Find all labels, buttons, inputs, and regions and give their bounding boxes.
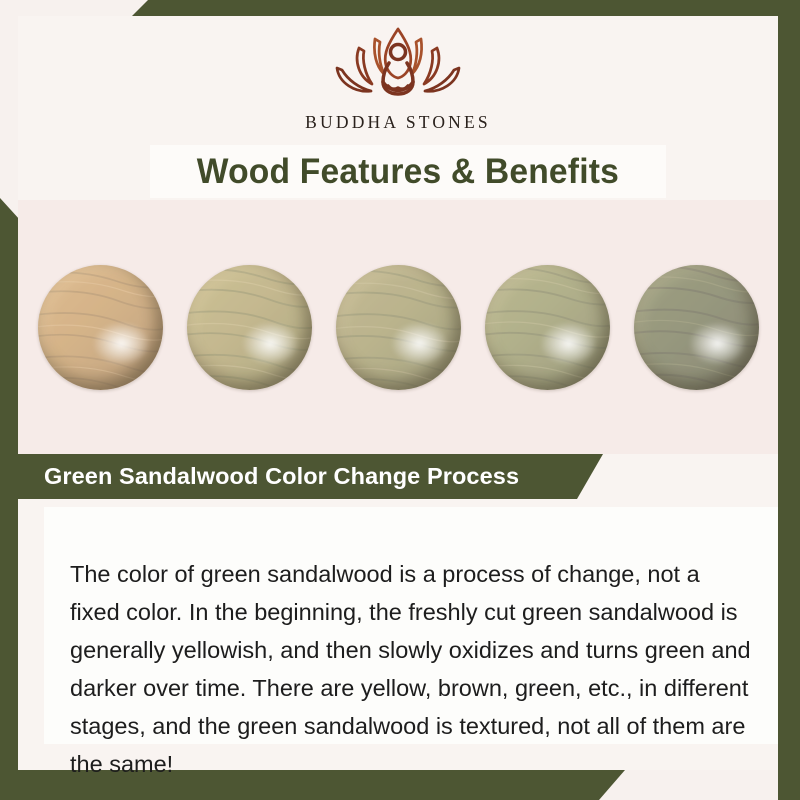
bead-stage-5 [634, 265, 759, 390]
bead-stage-3 [336, 265, 461, 390]
bead-stage-4 [485, 265, 610, 390]
frame-band-left [0, 198, 20, 800]
section-banner-label: Green Sandalwood Color Change Process [18, 463, 519, 490]
bead-highlight [689, 322, 747, 365]
infographic-canvas: BUDDHA STONES Wood Features & Benefits [0, 0, 800, 800]
bead-highlight [242, 322, 300, 365]
bead-stage-1 [38, 265, 163, 390]
bead-rim [187, 265, 312, 390]
bead-rim [336, 265, 461, 390]
bead-highlight [93, 322, 151, 365]
content-canvas: BUDDHA STONES Wood Features & Benefits [18, 16, 778, 770]
section-banner: Green Sandalwood Color Change Process [18, 454, 603, 499]
body-text-panel: The color of green sandalwood is a proce… [44, 507, 778, 744]
lotus-meditation-icon [313, 22, 483, 110]
brand-logo: BUDDHA STONES [18, 22, 778, 133]
page-title: Wood Features & Benefits [197, 152, 619, 192]
title-plate: Wood Features & Benefits [150, 145, 666, 198]
bead-rim [634, 265, 759, 390]
bead-rim [485, 265, 610, 390]
body-paragraph: The color of green sandalwood is a proce… [70, 555, 752, 783]
bead-highlight [540, 322, 598, 365]
bead-highlight [391, 322, 449, 365]
brand-wordmark: BUDDHA STONES [18, 112, 778, 133]
bead-rim [38, 265, 163, 390]
bead-progression-strip [18, 200, 778, 454]
bead-stage-2 [187, 265, 312, 390]
frame-band-right [778, 0, 800, 800]
